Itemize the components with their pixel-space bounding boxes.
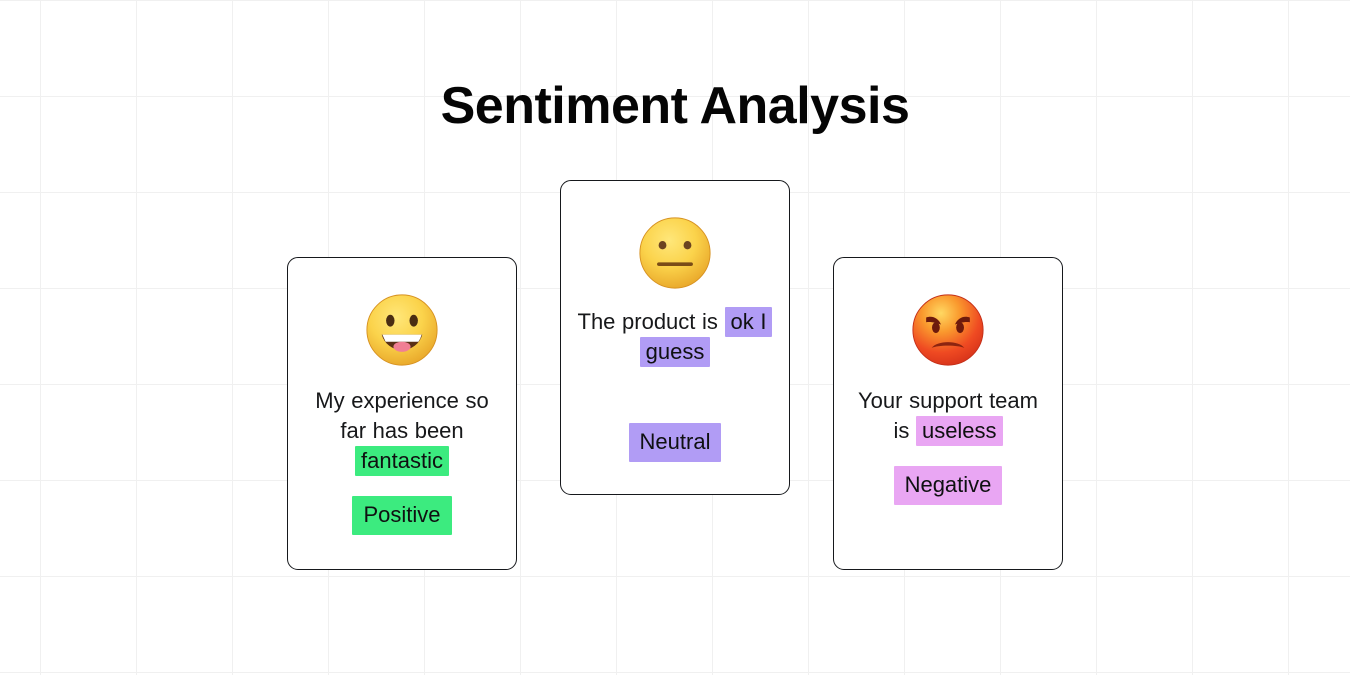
card-text: Your support team is useless bbox=[848, 386, 1048, 446]
emoji-container bbox=[363, 282, 441, 378]
badge-row: Neutral bbox=[575, 423, 775, 462]
status-badge: Negative bbox=[894, 466, 1003, 505]
card-text: My experience so far has been fantastic bbox=[302, 386, 502, 476]
grinning-face-emoji bbox=[363, 291, 441, 369]
card-text-before: My experience so far has been bbox=[315, 388, 488, 443]
card-text: The product is ok I guess bbox=[575, 307, 775, 367]
canvas-stage: Sentiment Analysis My ex bbox=[0, 0, 1350, 675]
highlight-word: fantastic bbox=[355, 446, 449, 476]
badge-row: Negative bbox=[848, 466, 1048, 505]
emoji-container bbox=[636, 205, 714, 301]
sentiment-card-negative[interactable]: Your support team is useless Negative bbox=[833, 257, 1063, 570]
card-text-before: The product is bbox=[578, 309, 725, 334]
sentiment-card-neutral[interactable]: The product is ok I guess Neutral bbox=[560, 180, 790, 495]
highlight-word: useless bbox=[916, 416, 1003, 446]
angry-face-emoji bbox=[909, 291, 987, 369]
page-title: Sentiment Analysis bbox=[0, 74, 1350, 138]
status-badge: Positive bbox=[352, 496, 451, 535]
status-badge: Neutral bbox=[629, 423, 722, 462]
sentiment-card-positive[interactable]: My experience so far has been fantastic … bbox=[287, 257, 517, 570]
badge-row: Positive bbox=[302, 496, 502, 535]
emoji-container bbox=[909, 282, 987, 378]
neutral-face-emoji bbox=[636, 214, 714, 292]
